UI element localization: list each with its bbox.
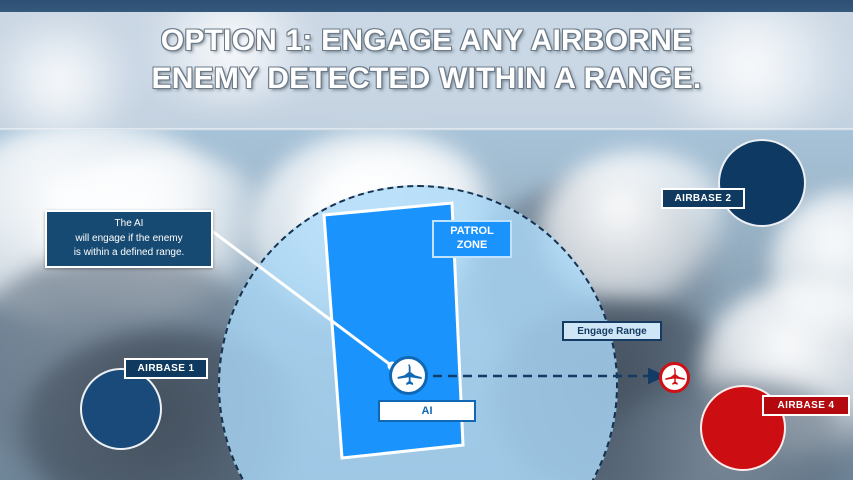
enemy-jet-icon [664, 367, 685, 388]
top-sky-strip [0, 0, 853, 12]
airbase-2-marker[interactable] [718, 139, 806, 227]
friendly-jet-icon [396, 363, 422, 389]
title-band-underline [0, 128, 853, 131]
page-title: OPTION 1: ENGAGE ANY AIRBORNE ENEMY DETE… [0, 22, 853, 99]
airbase-2-label: AIRBASE 2 [661, 188, 745, 209]
ai-label: AI [378, 400, 476, 422]
airbase-1-label: AIRBASE 1 [124, 358, 208, 379]
slide-canvas: The AI will engage if the enemy is withi… [0, 0, 853, 480]
ai-behaviour-callout: The AI will engage if the enemy is withi… [45, 210, 213, 268]
engage-arrow [418, 362, 678, 386]
enemy-aircraft-marker[interactable] [659, 362, 690, 393]
patrol-zone-label: PATROL ZONE [432, 220, 512, 258]
engage-range-label: Engage Range [562, 321, 662, 341]
ai-aircraft-marker[interactable] [389, 356, 428, 395]
airbase-4-label: AIRBASE 4 [762, 395, 850, 416]
airbase-1-marker[interactable] [80, 368, 162, 450]
